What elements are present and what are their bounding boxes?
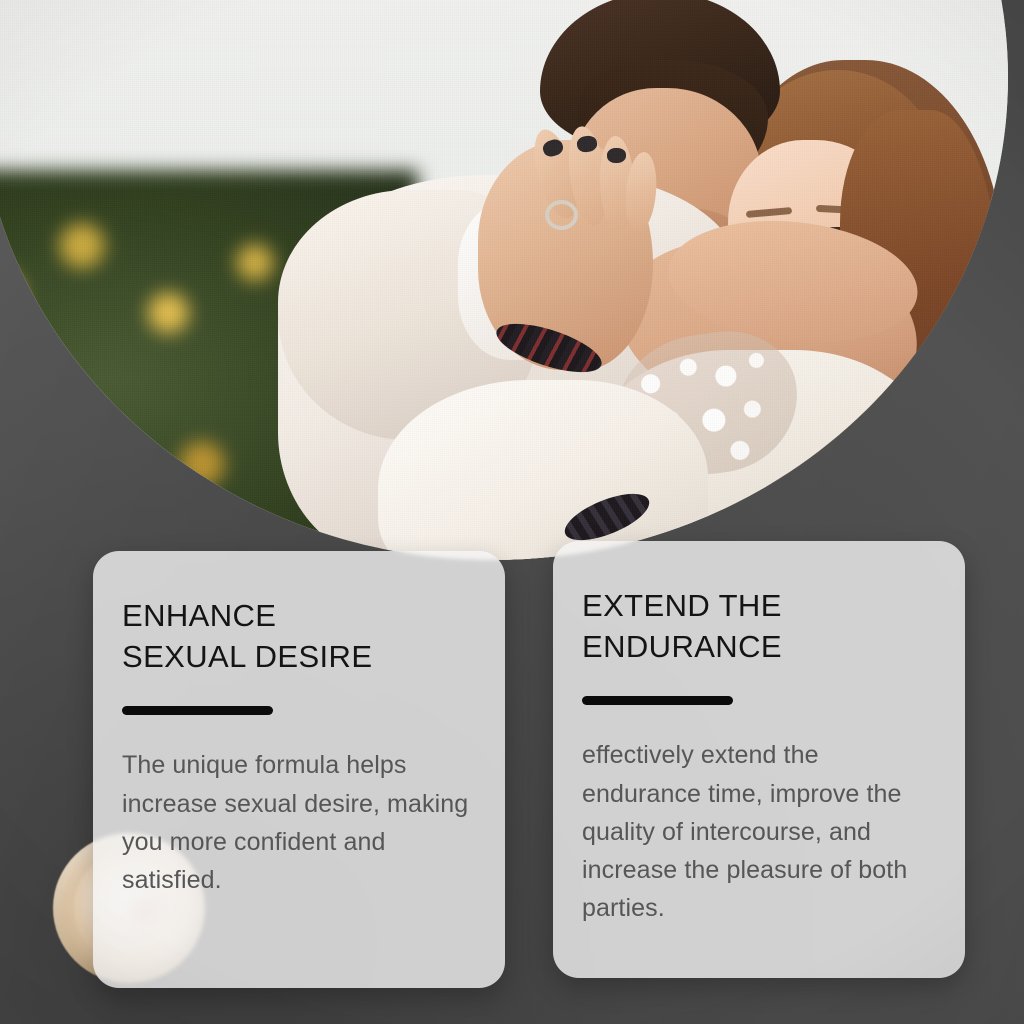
benefit-card-extend-the-endurance: EXTEND THE ENDURANCE effectively extend … — [553, 541, 965, 978]
hero-photo-circle-mask — [0, 0, 1008, 560]
title-underline-rule — [582, 696, 733, 705]
woman-dress-sleeve — [378, 380, 708, 560]
finger-ring-jewelry — [545, 200, 578, 230]
card-content: EXTEND THE ENDURANCE effectively extend … — [582, 585, 939, 928]
hero-photo — [0, 0, 1008, 560]
card-body-text: The unique formula helps increase sexual… — [122, 746, 479, 899]
promo-banner: ENHANCE SEXUAL DESIRE The unique formula… — [0, 0, 1024, 1024]
fingernail-3 — [607, 148, 627, 164]
card-title: EXTEND THE ENDURANCE — [582, 585, 939, 667]
benefit-card-enhance-sexual-desire: ENHANCE SEXUAL DESIRE The unique formula… — [93, 551, 505, 988]
card-body-text: effectively extend the endurance time, i… — [582, 736, 939, 927]
title-underline-rule — [122, 706, 273, 715]
card-content: ENHANCE SEXUAL DESIRE The unique formula… — [122, 595, 479, 899]
card-title: ENHANCE SEXUAL DESIRE — [122, 595, 479, 677]
